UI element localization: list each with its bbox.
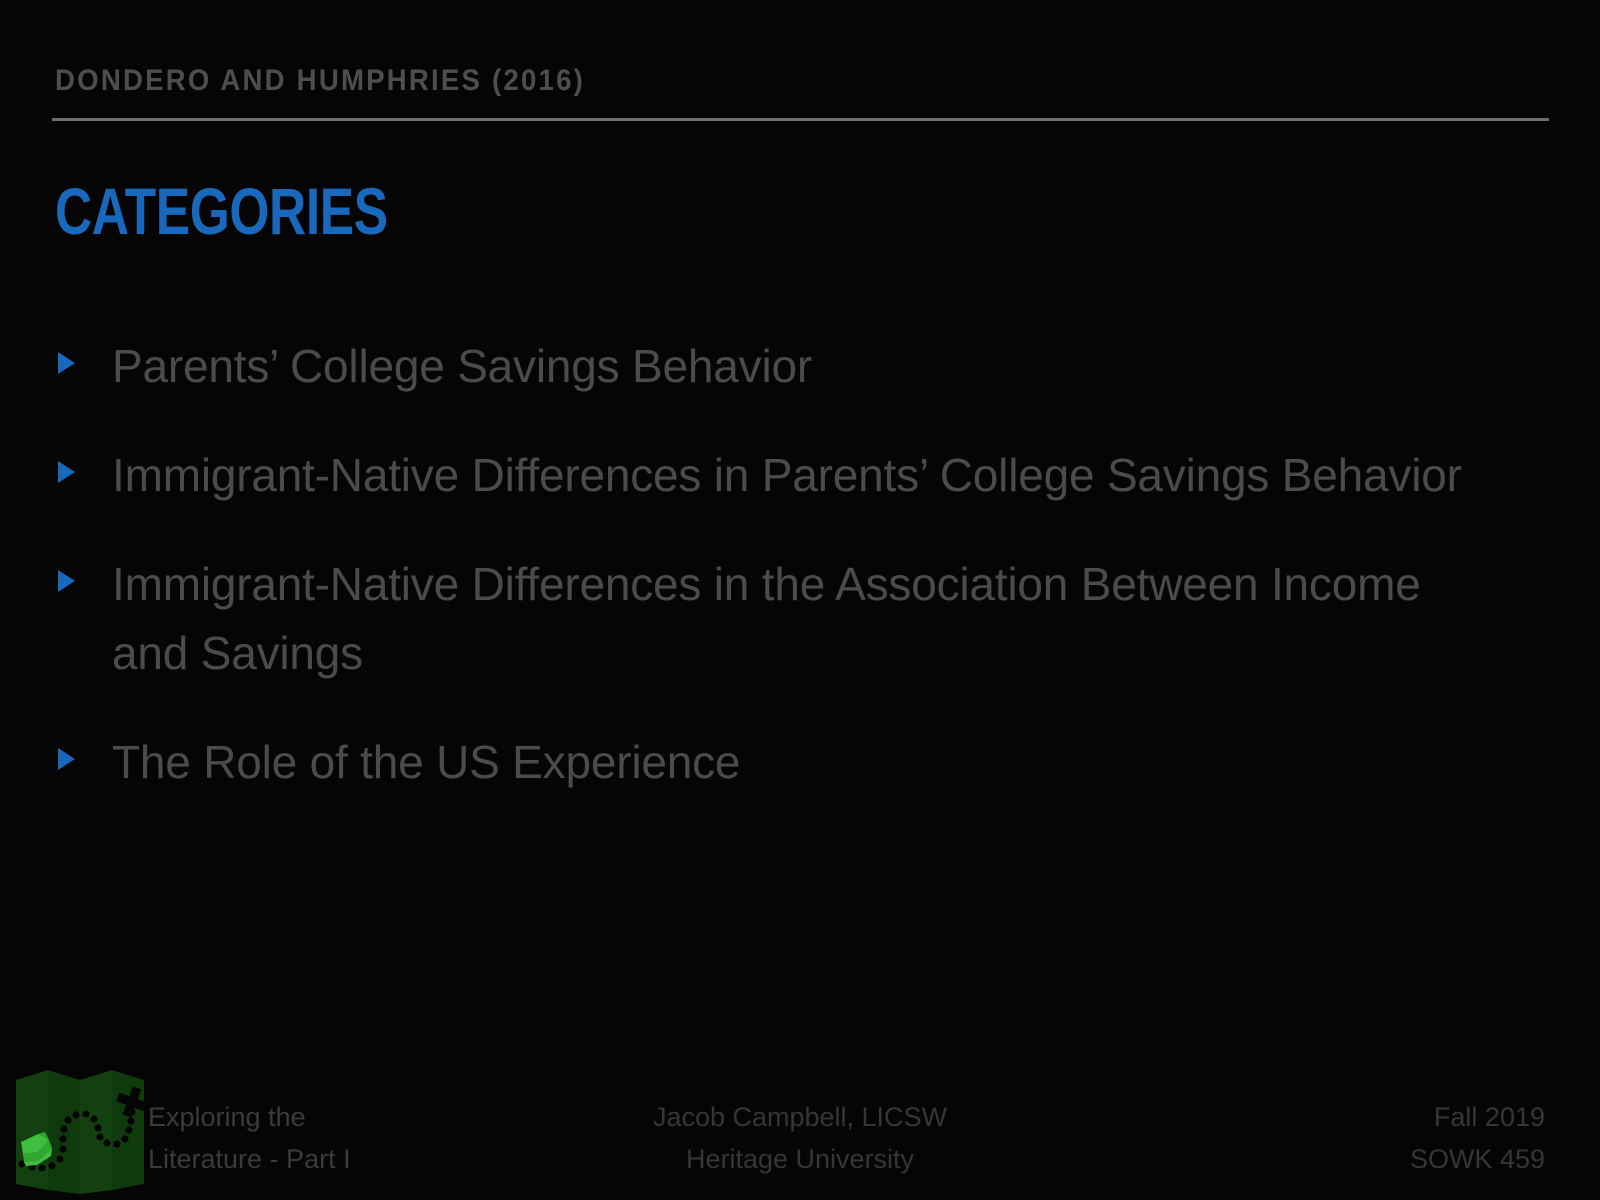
list-item-label: Immigrant-Native Differences in the Asso… xyxy=(112,550,1495,688)
slide-eyebrow-heading: DONDERO AND HUMPHRIES (2016) xyxy=(55,64,585,98)
footer-course-code: SOWK 459 xyxy=(1410,1138,1545,1180)
footer-term-course: Fall 2019 SOWK 459 xyxy=(1410,1096,1545,1180)
header-divider-rule xyxy=(52,118,1549,121)
page-title: CATEGORIES xyxy=(55,178,388,244)
list-item-label: The Role of the US Experience xyxy=(112,728,1495,797)
list-item-label: Immigrant-Native Differences in Parents’… xyxy=(112,441,1495,510)
bullet-list: Parents’ College Savings Behavior Immigr… xyxy=(55,332,1495,837)
slide-footer: Exploring the Literature - Part I Jacob … xyxy=(0,1050,1600,1200)
list-item: Parents’ College Savings Behavior xyxy=(55,332,1495,401)
footer-presenter-name: Jacob Campbell, LICSW xyxy=(0,1096,1600,1138)
footer-presenter: Jacob Campbell, LICSW Heritage Universit… xyxy=(0,1096,1600,1180)
triangle-right-icon xyxy=(55,459,77,483)
list-item: The Role of the US Experience xyxy=(55,728,1495,797)
presentation-slide: DONDERO AND HUMPHRIES (2016) CATEGORIES … xyxy=(0,0,1600,1200)
footer-presenter-institution: Heritage University xyxy=(0,1138,1600,1180)
triangle-right-icon xyxy=(55,568,77,592)
list-item: Immigrant-Native Differences in the Asso… xyxy=(55,550,1495,688)
list-item: Immigrant-Native Differences in Parents’… xyxy=(55,441,1495,510)
footer-term: Fall 2019 xyxy=(1410,1096,1545,1138)
triangle-right-icon xyxy=(55,350,77,374)
triangle-right-icon xyxy=(55,746,77,770)
list-item-label: Parents’ College Savings Behavior xyxy=(112,332,1495,401)
